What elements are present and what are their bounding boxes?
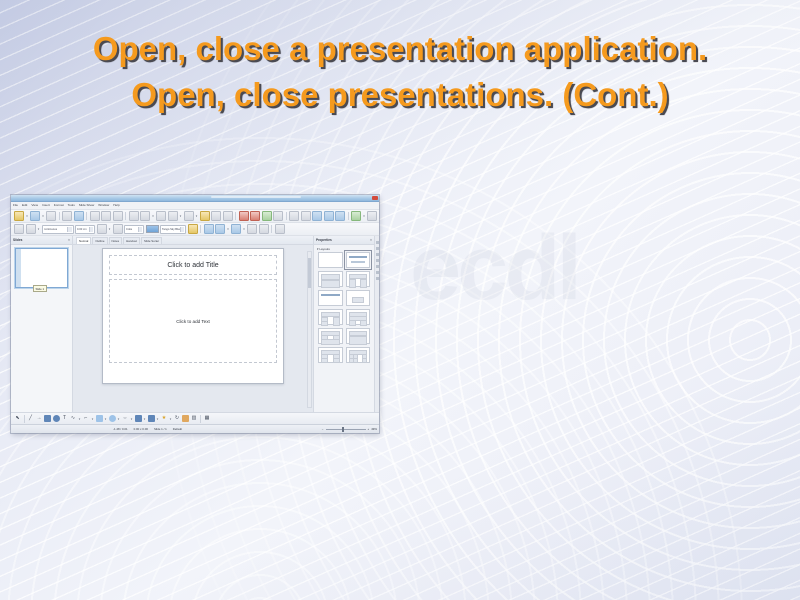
symbol-shapes-icon[interactable]: [109, 415, 116, 422]
menu-item-tools[interactable]: Tools: [68, 202, 75, 209]
slide-thumbnail-accent: [16, 249, 21, 287]
layout-block: [321, 321, 328, 326]
tab-notes[interactable]: Notes: [109, 237, 123, 244]
layout-two-content-over-content[interactable]: [318, 328, 343, 344]
rotate-icon[interactable]: [204, 224, 214, 234]
align-dropdown-icon[interactable]: ▾: [227, 225, 230, 233]
image-icon[interactable]: [250, 211, 260, 221]
menu-item-format[interactable]: Format: [54, 202, 64, 209]
new-icon[interactable]: [14, 211, 24, 221]
line-width-input[interactable]: 0.00 cm: [75, 225, 95, 234]
title-placeholder[interactable]: Click to add Title: [109, 255, 277, 275]
callout-dropdown-icon[interactable]: ▾: [156, 415, 159, 423]
close-icon[interactable]: ×: [370, 236, 372, 244]
symbol-shapes-dropdown-icon[interactable]: ▾: [117, 415, 120, 423]
block-arrows-icon[interactable]: ⇔: [122, 415, 129, 422]
layout-block: [360, 320, 367, 326]
connector-dropdown-icon[interactable]: ▾: [91, 415, 94, 423]
menu-item-file[interactable]: File: [13, 202, 18, 209]
ellipse-icon[interactable]: [53, 415, 60, 422]
impress-workspace: Slides × Slide 1 Normal Outline Notes Ha…: [11, 236, 379, 412]
layout-block: [321, 339, 340, 345]
menu-item-window[interactable]: Window: [98, 202, 109, 209]
sidebar-navigator-icon[interactable]: [376, 277, 379, 280]
clone-formatting-icon[interactable]: [156, 211, 166, 221]
slide-layout-icon[interactable]: [367, 211, 377, 221]
arrow-style-icon[interactable]: [26, 224, 36, 234]
paste-dropdown-icon[interactable]: ▾: [152, 212, 155, 220]
master-slide-icon[interactable]: [324, 211, 334, 221]
toolbar-separator: [286, 212, 287, 220]
zoom-in-icon[interactable]: +: [368, 427, 370, 431]
layout-six-content[interactable]: [346, 347, 371, 363]
line-style-select[interactable]: Continuous: [42, 225, 74, 234]
new-slide-icon[interactable]: [351, 211, 361, 221]
slide-thumbnail-list[interactable]: Slide 1: [11, 245, 72, 288]
curve-icon[interactable]: ∿: [70, 415, 77, 422]
sidebar-gallery-icon[interactable]: [376, 271, 379, 274]
print-icon[interactable]: [90, 211, 100, 221]
layout-block: [333, 358, 340, 363]
open-dropdown-icon[interactable]: ▾: [42, 212, 45, 220]
layout-content-over-two-content[interactable]: [346, 309, 371, 325]
undo-icon[interactable]: [168, 211, 178, 221]
toolbar-separator: [200, 415, 201, 423]
layout-title-only[interactable]: [318, 290, 343, 306]
toolbar-separator: [24, 415, 25, 423]
slide-thumbnail-1[interactable]: [15, 248, 68, 288]
basic-shapes-icon[interactable]: [96, 415, 103, 422]
print-preview-icon[interactable]: [101, 211, 111, 221]
slide-tooltip: Slide 1: [33, 285, 47, 292]
layout-block: [360, 279, 367, 288]
merge-icon[interactable]: [247, 224, 257, 234]
layout-block: [349, 320, 356, 326]
zoom-control[interactable]: − + 49%: [322, 427, 377, 431]
line-color-dropdown-icon[interactable]: ▾: [108, 225, 111, 233]
properties-panel-header: Properties ×: [314, 236, 374, 245]
layout-title-two-content[interactable]: [346, 271, 371, 287]
copy-icon[interactable]: [129, 211, 139, 221]
layout-block: [333, 317, 340, 326]
status-size: 0.00 x 0.00: [134, 427, 148, 431]
layout-block: [349, 279, 356, 288]
line-icon[interactable]: ╱: [27, 415, 34, 422]
start-slideshow-icon[interactable]: [335, 211, 345, 221]
email-icon[interactable]: [62, 211, 72, 221]
sidebar-animation-icon[interactable]: [376, 253, 379, 256]
content-placeholder-text: Click to add Text: [176, 319, 210, 324]
tab-slide-sorter[interactable]: Slide Sorter: [141, 237, 162, 244]
presentation-slide: ecdl Open, close a presentation applicat…: [0, 0, 800, 600]
line-width-value: 0.00 cm: [77, 228, 87, 231]
cut-icon[interactable]: [113, 211, 123, 221]
text-box-icon[interactable]: T: [61, 415, 68, 422]
arrange-dropdown-icon[interactable]: ▾: [243, 225, 246, 233]
fill-style-value: Color: [126, 228, 132, 231]
chevron-down-icon[interactable]: [138, 227, 142, 232]
sidebar-properties-icon[interactable]: [376, 241, 379, 244]
layout-two-content-and-content[interactable]: [318, 309, 343, 325]
slide-editing-area[interactable]: Click to add Title Click to add Text: [73, 245, 313, 412]
toolbar-separator: [59, 212, 60, 220]
layout-centered-text[interactable]: [346, 290, 371, 306]
toolbar-separator: [200, 225, 201, 233]
tab-handout[interactable]: Handout: [123, 237, 140, 244]
line-and-filling-toolbar[interactable]: ▾ Continuous 0.00 cm ▾ Color Tango Sky B…: [11, 223, 379, 236]
layouts-label: Layouts: [319, 247, 330, 251]
fill-color-select[interactable]: Tango Sky Blue: [160, 225, 186, 234]
arrow-icon[interactable]: →: [36, 415, 43, 422]
view-tab-bar[interactable]: Normal Outline Notes Handout Slide Sorte…: [73, 236, 313, 245]
layout-title-content[interactable]: [346, 252, 371, 268]
layout-title-bar: [349, 256, 368, 258]
status-bar: -1.48 / 0.01 0.00 x 0.00 Slide 1 / 1 Def…: [11, 424, 379, 433]
line-style-icon[interactable]: [14, 224, 24, 234]
toolbar-separator: [86, 212, 87, 220]
flowchart-icon[interactable]: [135, 415, 142, 422]
status-master-name: Default: [173, 427, 182, 431]
connector-icon[interactable]: ⌐: [83, 415, 90, 422]
arrange-icon[interactable]: [231, 224, 241, 234]
zoom-slider[interactable]: [326, 429, 366, 430]
save-icon[interactable]: [46, 211, 56, 221]
slide-canvas[interactable]: Click to add Title Click to add Text: [102, 248, 284, 384]
menu-item-edit[interactable]: Edit: [22, 202, 27, 209]
split-icon[interactable]: [259, 224, 269, 234]
fill-color-swatch[interactable]: [146, 225, 159, 233]
slides-panel-header: Slides ×: [11, 236, 72, 245]
textbox-icon[interactable]: [273, 211, 283, 221]
zoom-slider-thumb[interactable]: [342, 427, 344, 432]
crop-icon[interactable]: [275, 224, 285, 234]
properties-panel-title: Properties: [316, 238, 332, 242]
slides-panel: Slides × Slide 1: [11, 236, 73, 412]
layout-block: [321, 280, 340, 288]
layout-content-over-content[interactable]: [346, 328, 371, 344]
layouts-section-header[interactable]: ▾ Layouts: [314, 245, 374, 252]
arrange-icon[interactable]: ▥: [191, 415, 198, 422]
spelling-icon[interactable]: [211, 211, 221, 221]
scrollbar-thumb[interactable]: [308, 258, 311, 288]
find-replace-icon[interactable]: [200, 211, 210, 221]
table-icon[interactable]: [239, 211, 249, 221]
window-close-icon[interactable]: [372, 196, 378, 200]
redo-icon[interactable]: [184, 211, 194, 221]
filter-icon[interactable]: ▦: [204, 415, 211, 422]
layout-title-content-over-content[interactable]: [318, 271, 343, 287]
tab-normal[interactable]: Normal: [76, 237, 91, 244]
chart-icon[interactable]: [262, 211, 272, 221]
chevron-down-icon[interactable]: [67, 227, 72, 232]
open-icon[interactable]: [30, 211, 40, 221]
align-icon[interactable]: [182, 415, 189, 422]
layout-grid[interactable]: [314, 252, 374, 363]
zoom-level-label: 49%: [371, 427, 377, 431]
layout-block: [353, 358, 358, 363]
sidebar-tab-rail[interactable]: [374, 236, 379, 412]
layout-title-bar: [321, 294, 340, 296]
new-dropdown-icon[interactable]: ▾: [26, 212, 29, 220]
layout-content-bar: [351, 261, 366, 263]
menu-item-slideshow[interactable]: Slide Show: [79, 202, 94, 209]
callout-icon[interactable]: [148, 415, 155, 422]
sidebar-slide-transition-icon[interactable]: [376, 247, 379, 250]
title-line-1: Open, close a presentation application.: [40, 26, 760, 72]
hyperlink-icon[interactable]: [289, 211, 299, 221]
menu-item-insert[interactable]: Insert: [42, 202, 50, 209]
drawing-toolbar[interactable]: ⬉ ╱ → T ∿ ▾ ⌐ ▾ ▾ ▾ ⇔ ▾ ▾ ▾ ★ ▾ ↻ ▥: [11, 412, 379, 424]
content-placeholder[interactable]: Click to add Text: [109, 279, 277, 363]
sidebar-styles-icon[interactable]: [376, 265, 379, 268]
layout-block: [362, 358, 367, 363]
layout-block: [321, 358, 328, 363]
basic-shapes-dropdown-icon[interactable]: ▾: [104, 415, 107, 423]
editor-vertical-scrollbar[interactable]: [307, 251, 312, 408]
flowchart-dropdown-icon[interactable]: ▾: [143, 415, 146, 423]
impress-screenshot-image: File Edit View Insert Format Tools Slide…: [11, 195, 379, 433]
helplines-icon[interactable]: [301, 211, 311, 221]
spinner-icon[interactable]: [89, 227, 93, 232]
display-grid-icon[interactable]: [223, 211, 233, 221]
sidebar-master-slides-icon[interactable]: [376, 259, 379, 262]
slides-panel-title: Slides: [13, 238, 22, 242]
rectangle-icon[interactable]: [44, 415, 51, 422]
line-style-value: Continuous: [44, 228, 58, 231]
status-slide-count: Slide 1 / 1: [154, 427, 167, 431]
area-style-icon[interactable]: [113, 224, 123, 234]
standard-toolbar[interactable]: ▾ ▾ ▾ ▾ ▾: [11, 210, 379, 223]
shadow-icon[interactable]: [188, 224, 198, 234]
new-slide-dropdown-icon[interactable]: ▾: [363, 212, 366, 220]
layout-block: [349, 336, 368, 345]
select-icon[interactable]: ⬉: [14, 415, 21, 422]
toolbar-separator: [125, 212, 126, 220]
layout-block: [352, 297, 365, 303]
paste-icon[interactable]: [140, 211, 150, 221]
toolbar-separator: [348, 212, 349, 220]
tab-outline[interactable]: Outline: [92, 237, 107, 244]
toolbar-separator: [235, 212, 236, 220]
stars-icon[interactable]: ★: [161, 415, 168, 422]
fill-style-select[interactable]: Color: [124, 225, 144, 234]
layout-four-content[interactable]: [318, 347, 343, 363]
slide-title: Open, close a presentation application. …: [40, 26, 760, 118]
menu-item-view[interactable]: View: [31, 202, 38, 209]
menu-item-help[interactable]: Help: [113, 202, 119, 209]
layout-blank-slide[interactable]: [318, 252, 343, 268]
close-icon[interactable]: ×: [68, 236, 70, 244]
curve-dropdown-icon[interactable]: ▾: [78, 415, 81, 423]
chevron-down-icon[interactable]: [180, 227, 184, 232]
align-objects-icon[interactable]: [215, 224, 225, 234]
rotate-icon[interactable]: ↻: [174, 415, 181, 422]
line-color-icon[interactable]: [97, 224, 107, 234]
zoom-out-icon[interactable]: −: [322, 427, 324, 431]
menu-bar[interactable]: File Edit View Insert Format Tools Slide…: [11, 202, 379, 210]
slide-layout-dropdown-icon[interactable]: ▾: [379, 212, 380, 220]
arrow-style-dropdown-icon[interactable]: ▾: [37, 225, 40, 233]
pdf-icon[interactable]: [74, 211, 84, 221]
toolbar-separator: [271, 225, 272, 233]
properties-panel: Properties × ▾ Layouts: [313, 236, 374, 412]
status-position: -1.48 / 0.01: [113, 427, 128, 431]
window-title-text: [211, 196, 301, 198]
title-line-2: Open, close presentations. (Cont.): [40, 72, 760, 118]
redo-dropdown-icon[interactable]: ▾: [195, 212, 198, 220]
block-arrows-dropdown-icon[interactable]: ▾: [130, 415, 133, 423]
editor-pane: Normal Outline Notes Handout Slide Sorte…: [73, 236, 313, 412]
stars-dropdown-icon[interactable]: ▾: [169, 415, 172, 423]
title-placeholder-text: Click to add Title: [167, 262, 218, 269]
undo-dropdown-icon[interactable]: ▾: [179, 212, 182, 220]
display-views-icon[interactable]: [312, 211, 322, 221]
fill-color-value: Tango Sky Blue: [162, 228, 180, 231]
window-title-bar: [11, 195, 379, 202]
